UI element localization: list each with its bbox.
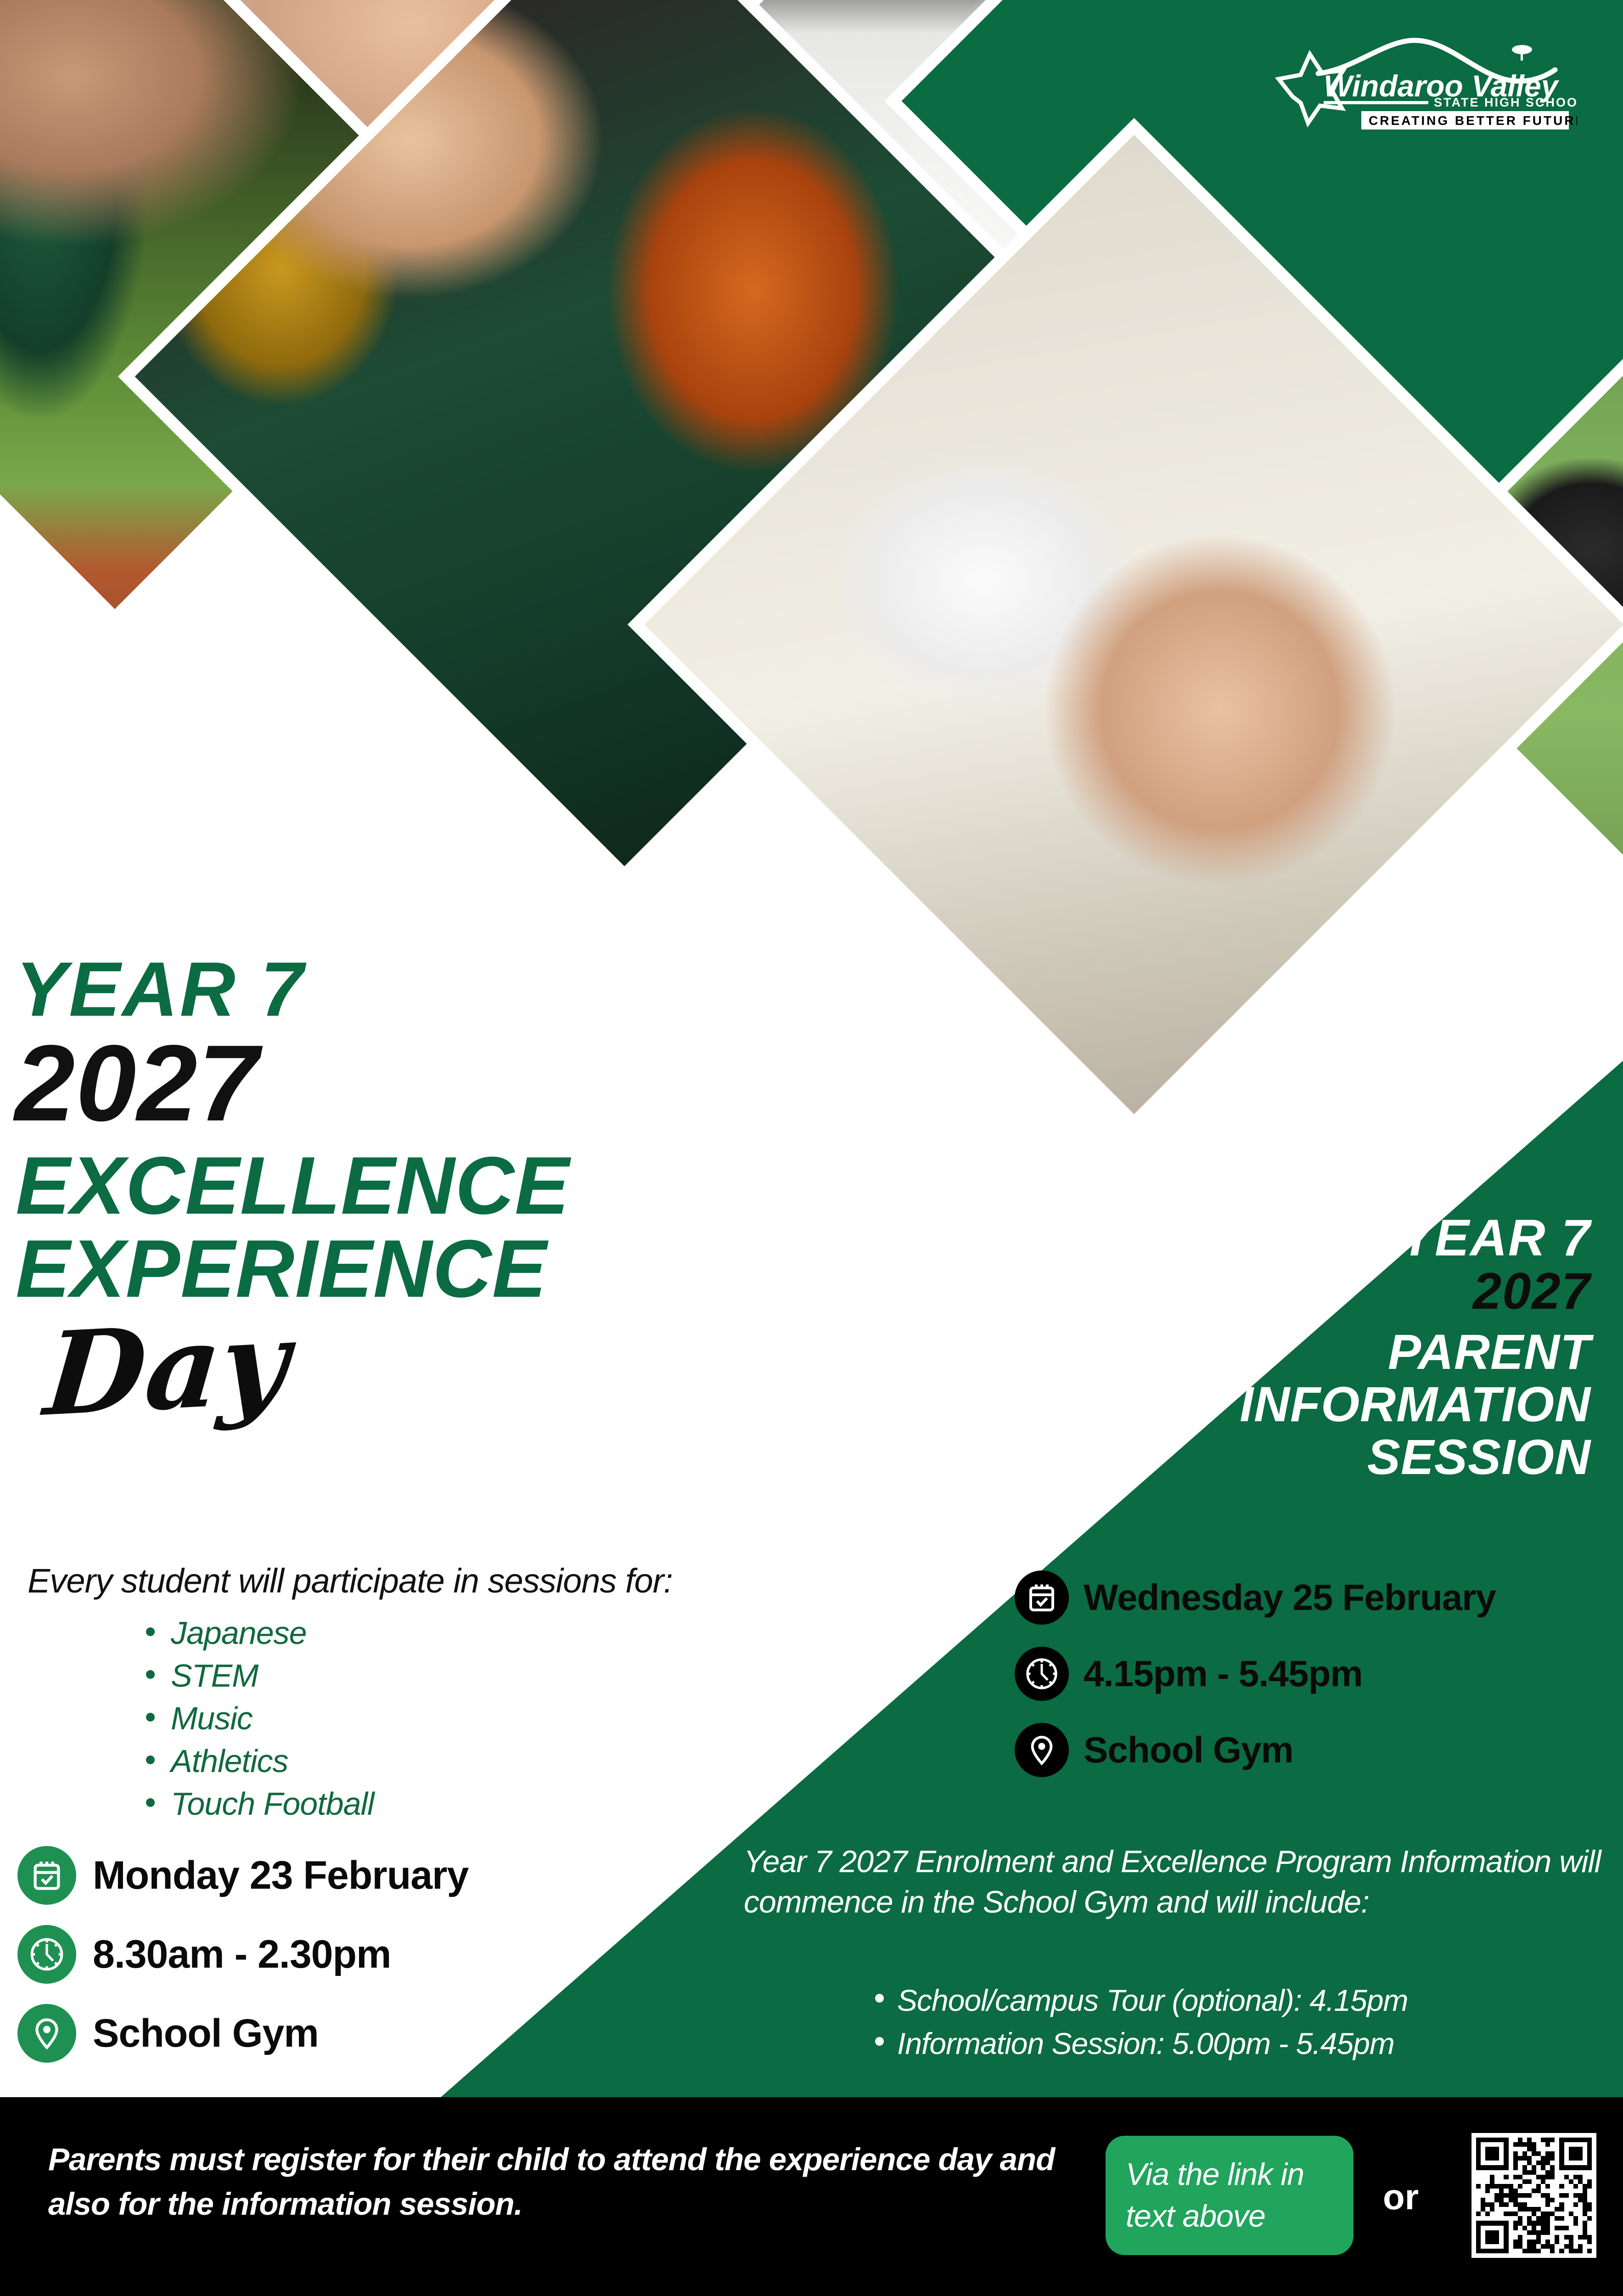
school-logo: Windaroo Valley STATE HIGH SCHOOL CREATI… [1274,28,1577,147]
or-separator-label: or [1383,2176,1419,2218]
registration-qr-code[interactable] [1471,2133,1596,2258]
parent-session-line1: PARENT [966,1326,1591,1378]
logo-tagline: CREATING BETTER FUTURES [1369,113,1577,128]
parent-session-details: Wednesday 25 February 4.15pm - 5.45pm [1015,1570,1621,1799]
footer-bar: Parents must register for their child to… [0,2097,1623,2296]
detail-value-date: Monday 23 February [93,1853,468,1898]
detail-row-time: 4.15pm - 5.45pm [1015,1647,1621,1701]
list-item: Athletics [142,1740,739,1783]
experience-day-subject-list: Japanese STEM Music Athletics Touch Foot… [142,1612,739,1825]
parent-session-line2: INFORMATION [966,1378,1591,1430]
list-item: Japanese [142,1612,739,1654]
list-item: Touch Football [142,1783,739,1825]
detail-value-location: School Gym [1084,1729,1293,1771]
registration-note: Parents must register for their child to… [48,2138,1063,2226]
parent-session-cohort: 2027 [966,1264,1591,1319]
page-title-line1: EXCELLENCE [16,1144,794,1227]
parent-session-line3: SESSION [966,1431,1591,1483]
calendar-icon [17,1846,76,1905]
detail-row-date: Monday 23 February [17,1846,706,1905]
detail-row-location: School Gym [1015,1723,1621,1777]
detail-value-date: Wednesday 25 February [1084,1576,1496,1619]
parent-session-body-text: Year 7 2027 Enrolment and Excellence Pro… [744,1841,1607,1923]
page-title-year: YEAR 7 [16,951,794,1028]
experience-day-lead-text: Every student will participate in sessio… [28,1561,817,1600]
detail-row-date: Wednesday 25 February [1015,1570,1621,1625]
main-title-block: YEAR 7 2027 EXCELLENCE EXPERIENCE Day [14,951,794,1432]
clock-icon [1015,1647,1069,1701]
list-item: School/campus Tour (optional): 4.15pm [872,1979,1616,2022]
clock-icon [17,1925,76,1984]
location-pin-icon [1015,1723,1069,1777]
detail-value-time: 8.30am - 2.30pm [93,1932,391,1977]
logo-subtitle: STATE HIGH SCHOOL [1434,96,1577,109]
list-item: Music [142,1697,739,1740]
register-link-button[interactable]: Via the link in text above [1106,2136,1353,2255]
parent-session-title-block: YEAR 7 2027 PARENT INFORMATION SESSION [966,1212,1591,1483]
list-item: STEM [142,1654,739,1697]
detail-value-location: School Gym [93,2011,319,2056]
register-link-button-label: Via the link in text above [1126,2154,1353,2237]
list-item: Information Session: 5.00pm - 5.45pm [872,2022,1616,2065]
parent-session-year: YEAR 7 [966,1212,1591,1264]
page-title-cohort: 2027 [15,1031,794,1136]
detail-value-time: 4.15pm - 5.45pm [1084,1653,1363,1695]
year7-excellence-experience-poster: Windaroo Valley STATE HIGH SCHOOL CREATI… [0,0,1623,2296]
parent-session-bullet-list: School/campus Tour (optional): 4.15pm In… [872,1979,1616,2065]
location-pin-icon [17,2004,76,2063]
calendar-icon [1015,1570,1069,1625]
